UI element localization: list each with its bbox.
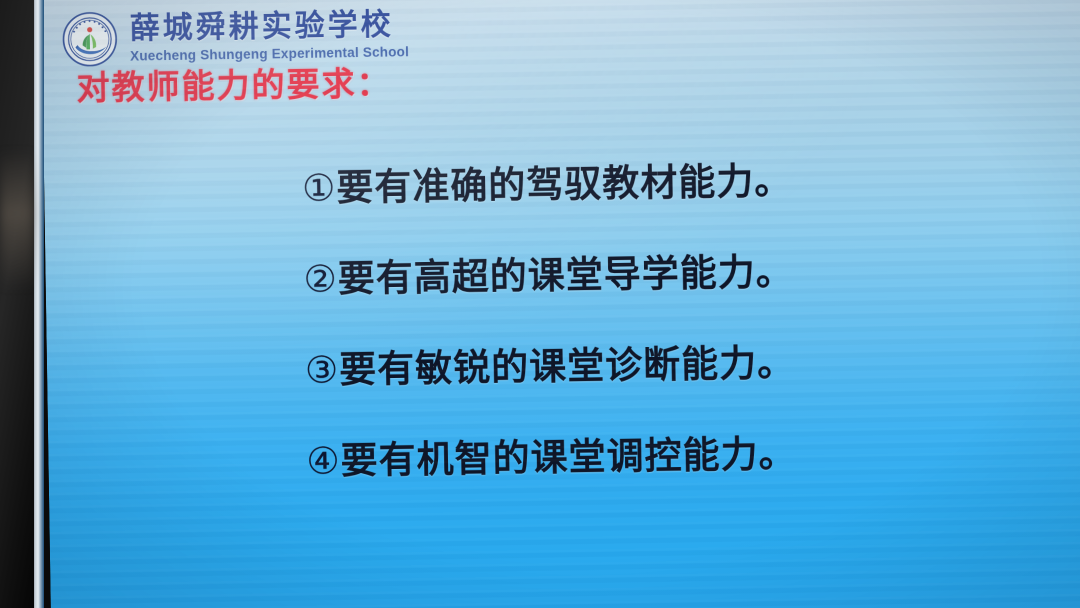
bullet-marker: ①	[302, 166, 336, 210]
display-bezel-left	[0, 0, 34, 608]
bullet-text: 要有机智的课堂调控能力。	[340, 423, 797, 484]
bullet-text: 要有敏锐的课堂诊断能力。	[339, 332, 796, 393]
list-item: ④ 要有机智的课堂调控能力。	[306, 419, 1047, 522]
bullet-text: 要有准确的驾驭教材能力。	[336, 150, 793, 211]
school-crest-icon	[61, 11, 118, 68]
bullet-marker: ④	[306, 439, 340, 483]
bullet-list: ① 要有准确的驾驭教材能力。 ② 要有高超的课堂导学能力。 ③ 要有敏锐的课堂诊…	[302, 146, 1048, 522]
bullet-text: 要有高超的课堂导学能力。	[337, 241, 794, 302]
list-item: ② 要有高超的课堂导学能力。	[303, 237, 1044, 340]
school-name-block: 薛城舜耕实验学校 Xuecheng Shungeng Experimental …	[129, 10, 409, 63]
slide-screen: 薛城舜耕实验学校 Xuecheng Shungeng Experimental …	[41, 0, 1080, 608]
slide-title: 对教师能力的要求：	[76, 57, 392, 110]
list-item: ① 要有准确的驾驭教材能力。	[302, 146, 1043, 249]
projector-photo: 薛城舜耕实验学校 Xuecheng Shungeng Experimental …	[0, 0, 1080, 608]
school-name-cn: 薛城舜耕实验学校	[129, 10, 408, 44]
bullet-marker: ②	[303, 257, 337, 301]
bullet-marker: ③	[305, 348, 339, 392]
list-item: ③ 要有敏锐的课堂诊断能力。	[305, 328, 1046, 431]
bezel-reflection	[0, 150, 34, 290]
